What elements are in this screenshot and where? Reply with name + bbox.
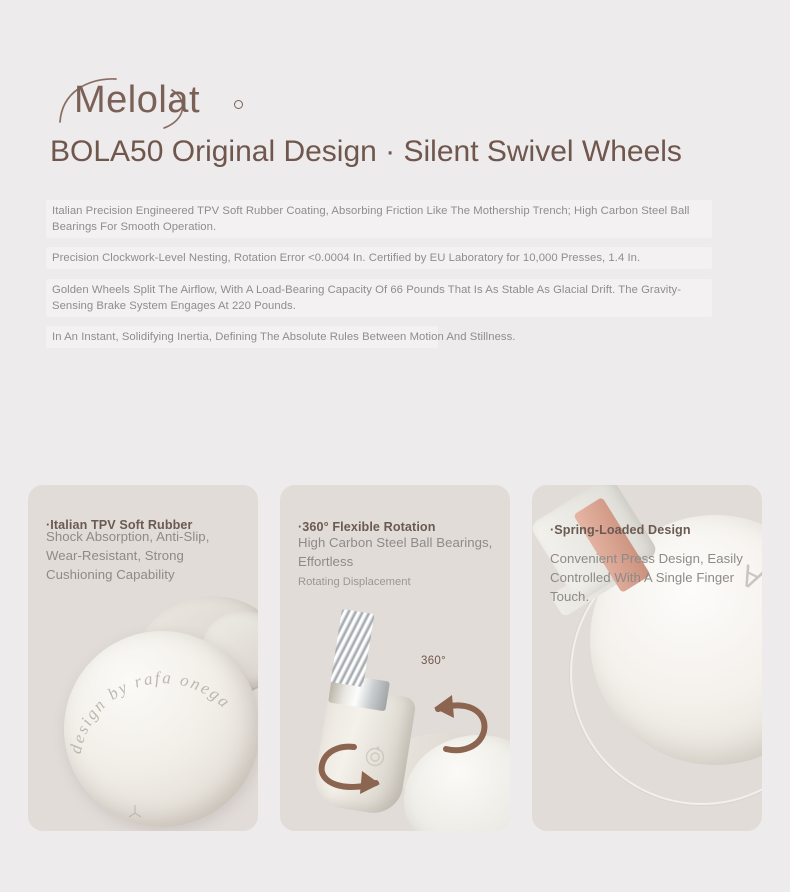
svg-text:design by rafa onega: design by rafa onega (66, 668, 235, 755)
spec-text: In An Instant, Solidifying Inertia, Defi… (52, 329, 714, 345)
spec-text: Golden Wheels Split The Airflow, With A … (52, 282, 714, 314)
card-subtitle: Shock Absorption, Anti-Slip, Wear-Resist… (46, 527, 248, 584)
brand-name: Melolat (74, 76, 200, 124)
feature-card-list: design by rafa onega ·Italian TPV Soft R… (28, 485, 762, 831)
spec-item: Precision Clockwork-Level Nesting, Rotat… (52, 250, 714, 266)
circle-dot-icon (234, 100, 243, 109)
card-text-block: ·Italian TPV Soft Rubber Shock Absorptio… (46, 518, 248, 584)
page-title: BOLA50 Original Design · Silent Swivel W… (50, 132, 682, 172)
card-subtitle: Convenient Press Design, Easily Controll… (550, 549, 752, 606)
feature-card-spring-loaded-design[interactable]: BOLA ·Spring-Loaded Design Convenient Pr… (532, 485, 762, 831)
spec-text: Italian Precision Engineered TPV Soft Ru… (52, 203, 714, 235)
spec-item: Golden Wheels Split The Airflow, With A … (52, 282, 714, 314)
engraved-designer-text: design by rafa onega (64, 631, 258, 827)
spec-item: Italian Precision Engineered TPV Soft Ru… (52, 203, 714, 235)
feature-card-360-flexible-rotation[interactable]: 360° ·360° Flexible Rotation High Carbon… (280, 485, 510, 831)
card-text-block: ·360° Flexible Rotation High Carbon Stee… (298, 520, 500, 590)
spec-text: Precision Clockwork-Level Nesting, Rotat… (52, 250, 714, 266)
spec-item: In An Instant, Solidifying Inertia, Defi… (52, 329, 714, 345)
card-subtitle: High Carbon Steel Ball Bearings, Effortl… (298, 533, 500, 571)
card-title: ·Spring-Loaded Design (550, 523, 752, 537)
rotation-badge-icon (362, 743, 388, 769)
card-detail: Rotating Displacement (298, 574, 500, 590)
threaded-stem-shape (330, 609, 374, 687)
degree-label: 360° (421, 655, 446, 667)
card-title: ·360° Flexible Rotation (298, 520, 500, 534)
brand-logo[interactable]: Melolat (52, 76, 312, 130)
spec-list: Italian Precision Engineered TPV Soft Ru… (52, 203, 714, 360)
feature-card-italian-tpv-soft-rubber[interactable]: design by rafa onega ·Italian TPV Soft R… (28, 485, 258, 831)
card-text-block: ·Spring-Loaded Design Convenient Press D… (550, 523, 752, 606)
